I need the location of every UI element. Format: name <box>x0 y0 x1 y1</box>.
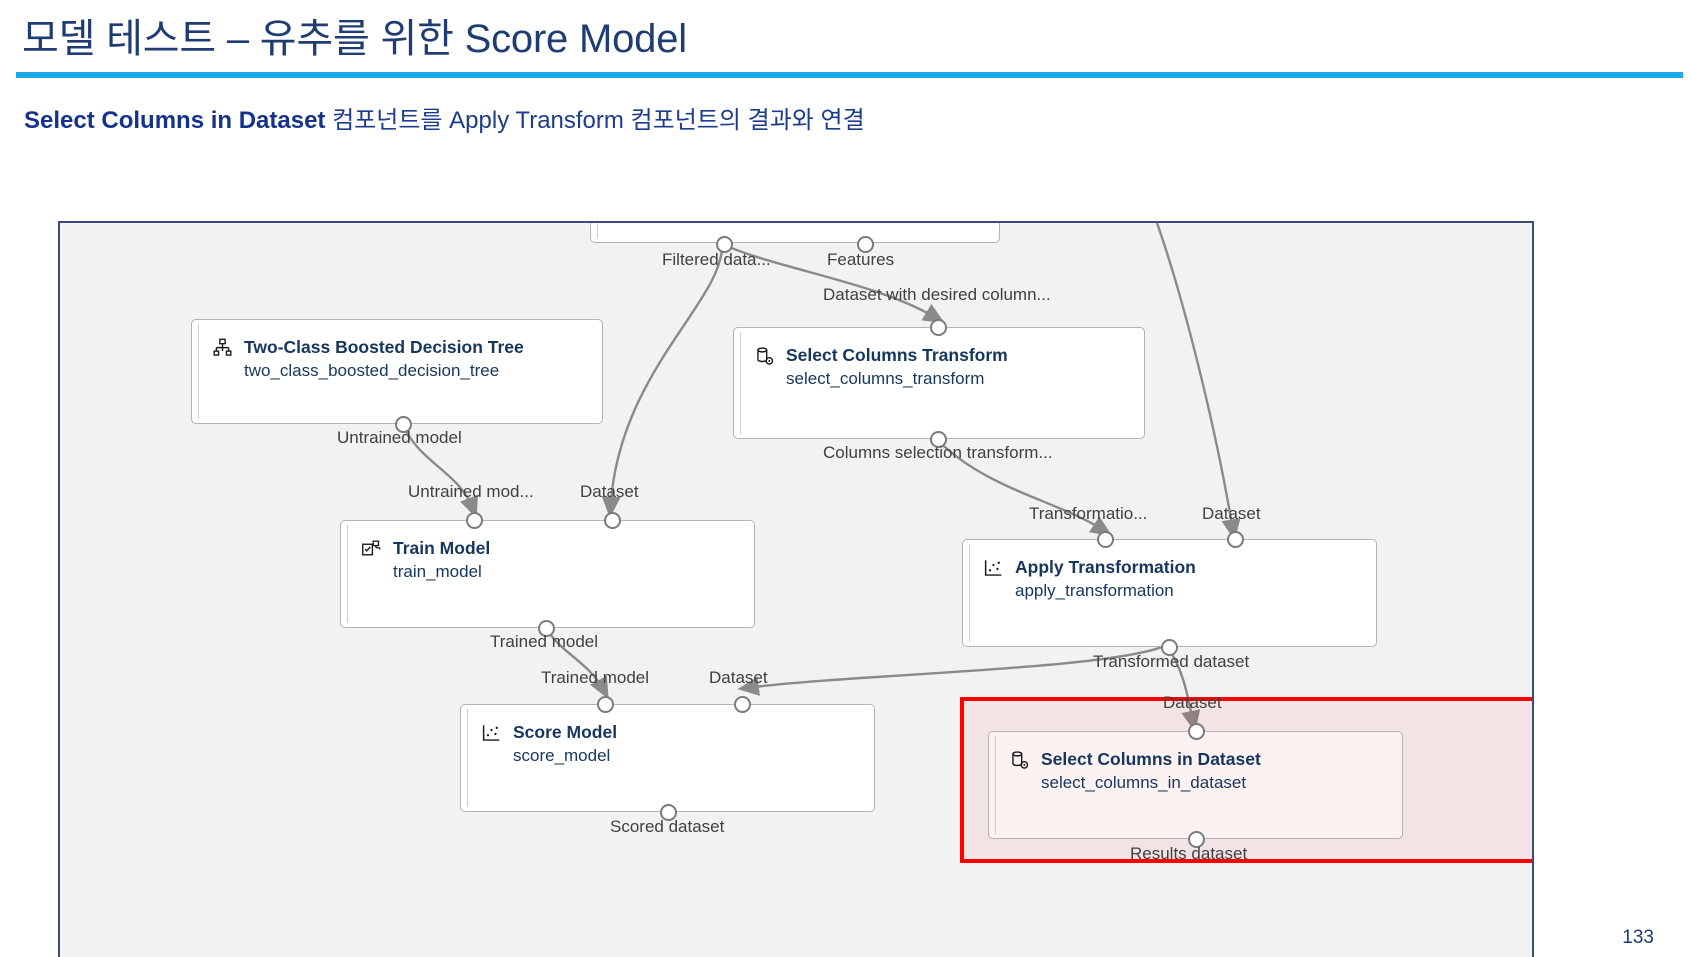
page-number: 133 <box>1622 927 1654 949</box>
port-untrained-model-in[interactable] <box>466 512 483 529</box>
node-subtitle: select_columns_in_dataset <box>1041 772 1261 795</box>
port-dataset-with-desired-column[interactable] <box>930 319 947 336</box>
node-labels: Train Model train_model <box>393 537 490 584</box>
subtitle-rest-part: 컴포넌트를 Apply Transform 컴포넌트의 결과와 연결 <box>325 107 864 134</box>
node-partial-top[interactable] <box>590 221 1000 243</box>
port-dataset-apply[interactable] <box>1227 531 1244 548</box>
node-two-class-boosted-decision-tree[interactable]: Two-Class Boosted Decision Tree two_clas… <box>191 319 603 424</box>
node-score-model[interactable]: Score Model score_model <box>460 704 875 812</box>
port-dataset-select[interactable] <box>1188 723 1205 740</box>
node-labels: Score Model score_model <box>513 721 617 768</box>
node-title: Train Model <box>393 537 490 561</box>
port-label-transformation-in: Transformatio... <box>1029 504 1147 524</box>
subtitle-bold-part: Select Columns in Dataset <box>24 107 325 134</box>
slide-root: 모델 테스트 – 유추를 위한 Score Model Select Colum… <box>0 0 1692 957</box>
node-title: Apply Transformation <box>1015 556 1196 580</box>
node-labels: Two-Class Boosted Decision Tree two_clas… <box>244 336 524 383</box>
node-subtitle: two_class_boosted_decision_tree <box>244 360 524 383</box>
node-subtitle: train_model <box>393 561 490 584</box>
node-labels: Apply Transformation apply_transformatio… <box>1015 556 1196 603</box>
scatter-plot-icon <box>481 723 502 744</box>
node-content: Select Columns in Dataset select_columns… <box>1009 748 1261 795</box>
node-title: Select Columns Transform <box>786 344 1008 368</box>
hierarchy-icon <box>212 338 233 359</box>
node-apply-transformation[interactable]: Apply Transformation apply_transformatio… <box>962 539 1377 647</box>
node-content: Apply Transformation apply_transformatio… <box>983 556 1196 603</box>
title-underline-rule <box>16 72 1683 78</box>
port-label-filtered-data: Filtered data... <box>662 250 771 270</box>
node-title: Select Columns in Dataset <box>1041 748 1261 772</box>
port-label-scored-dataset: Scored dataset <box>610 817 724 837</box>
node-subtitle: select_columns_transform <box>786 368 1008 391</box>
port-dataset-train[interactable] <box>604 512 621 529</box>
database-gear-icon <box>1009 750 1030 771</box>
node-select-columns-in-dataset[interactable]: Select Columns in Dataset select_columns… <box>988 731 1403 839</box>
port-dataset-score[interactable] <box>734 696 751 713</box>
node-content: Train Model train_model <box>361 537 490 584</box>
port-label-dataset-select: Dataset <box>1163 693 1222 713</box>
port-label-dataset-train: Dataset <box>580 482 639 502</box>
node-select-columns-transform[interactable]: Select Columns Transform select_columns_… <box>733 327 1145 439</box>
port-label-dataset-apply: Dataset <box>1202 504 1261 524</box>
node-train-model[interactable]: Train Model train_model <box>340 520 755 628</box>
port-transformation-in[interactable] <box>1097 531 1114 548</box>
port-label-transformed-dataset: Transformed dataset <box>1093 652 1249 672</box>
node-content: Two-Class Boosted Decision Tree two_clas… <box>212 336 524 383</box>
port-label-trained-model-out: Trained model <box>490 632 598 652</box>
scatter-plot-icon <box>983 558 1004 579</box>
port-label-columns-selection-transform: Columns selection transform... <box>823 443 1053 463</box>
port-label-dataset-score: Dataset <box>709 668 768 688</box>
port-label-trained-model-in: Trained model <box>541 668 649 688</box>
node-content: Select Columns Transform select_columns_… <box>754 344 1008 391</box>
port-label-features: Features <box>827 250 894 270</box>
node-labels: Select Columns in Dataset select_columns… <box>1041 748 1261 795</box>
port-trained-model-in[interactable] <box>597 696 614 713</box>
page-title: 모델 테스트 – 유추를 위한 Score Model <box>22 6 687 64</box>
node-title: Score Model <box>513 721 617 745</box>
database-gear-icon <box>754 346 775 367</box>
port-label-untrained-model-in: Untrained mod... <box>408 482 534 502</box>
node-title: Two-Class Boosted Decision Tree <box>244 336 524 360</box>
node-subtitle: score_model <box>513 745 617 768</box>
node-content: Score Model score_model <box>481 721 617 768</box>
node-labels: Select Columns Transform select_columns_… <box>786 344 1008 391</box>
port-label-results-dataset: Results dataset <box>1130 844 1247 864</box>
port-label-dataset-with-desired-column: Dataset with desired column... <box>823 285 1051 305</box>
pipeline-canvas[interactable]: Two-Class Boosted Decision Tree two_clas… <box>58 221 1534 957</box>
train-model-icon <box>361 539 382 560</box>
slide-subtitle: Select Columns in Dataset 컴포넌트를 Apply Tr… <box>24 100 865 135</box>
port-label-untrained-model-out: Untrained model <box>337 428 462 448</box>
node-subtitle: apply_transformation <box>1015 580 1196 603</box>
